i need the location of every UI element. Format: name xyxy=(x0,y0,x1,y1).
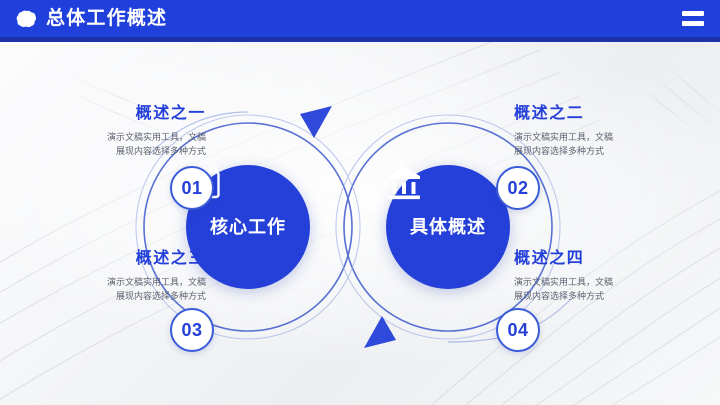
slide-canvas: 总体工作概述 xyxy=(0,0,720,405)
overview-item-title: 概述之二 xyxy=(514,105,692,123)
center-node-specific-overview[interactable]: 具体概述 xyxy=(386,165,510,289)
number-badge-04[interactable]: 04 xyxy=(496,308,540,352)
badge-number: 04 xyxy=(507,321,528,339)
number-badge-03[interactable]: 03 xyxy=(170,308,214,352)
overview-item-desc-line1: 演示文稿实用工具，文稿 xyxy=(514,275,692,290)
decor-triangle-top xyxy=(300,106,332,138)
badge-number: 03 xyxy=(181,321,202,339)
badge-number: 02 xyxy=(507,179,528,197)
overview-diagram: 核心工作 具体概述 01 02 03 04 xyxy=(0,42,720,405)
overview-item-02[interactable]: 概述之二 演示文稿实用工具，文稿 展现内容选择多种方式 xyxy=(514,105,692,159)
cloud-blob-icon xyxy=(16,10,37,28)
overview-item-desc-line2: 展现内容选择多种方式 xyxy=(514,289,692,304)
decor-triangle-bottom xyxy=(364,316,396,348)
hamburger-menu-icon[interactable] xyxy=(682,11,704,26)
number-badge-01[interactable]: 01 xyxy=(170,166,214,210)
page-title: 总体工作概述 xyxy=(46,9,167,28)
menu-bar-top xyxy=(682,11,704,16)
overview-item-desc-line1: 演示文稿实用工具，文稿 xyxy=(28,130,206,145)
overview-item-title: 概述之一 xyxy=(28,105,206,123)
bank-building-icon xyxy=(386,165,422,201)
overview-item-desc-line2: 展现内容选择多种方式 xyxy=(28,289,206,304)
center-node-label: 核心工作 xyxy=(210,218,286,236)
slide-header: 总体工作概述 xyxy=(0,0,720,42)
overview-item-title: 概述之四 xyxy=(514,250,692,268)
center-node-label: 具体概述 xyxy=(410,218,486,236)
overview-item-04[interactable]: 概述之四 演示文稿实用工具，文稿 展现内容选择多种方式 xyxy=(514,250,692,304)
overview-item-01[interactable]: 概述之一 演示文稿实用工具，文稿 展现内容选择多种方式 xyxy=(28,105,206,159)
overview-item-desc-line2: 展现内容选择多种方式 xyxy=(514,144,692,159)
overview-item-desc-line1: 演示文稿实用工具，文稿 xyxy=(514,130,692,145)
menu-bar-bottom xyxy=(682,21,704,26)
overview-item-title: 概述之三 xyxy=(28,250,206,268)
badge-number: 01 xyxy=(181,179,202,197)
header-underline xyxy=(0,37,720,42)
number-badge-02[interactable]: 02 xyxy=(496,166,540,210)
overview-item-desc-line2: 展现内容选择多种方式 xyxy=(28,144,206,159)
overview-item-03[interactable]: 概述之三 演示文稿实用工具，文稿 展现内容选择多种方式 xyxy=(28,250,206,304)
overview-item-desc-line1: 演示文稿实用工具，文稿 xyxy=(28,275,206,290)
